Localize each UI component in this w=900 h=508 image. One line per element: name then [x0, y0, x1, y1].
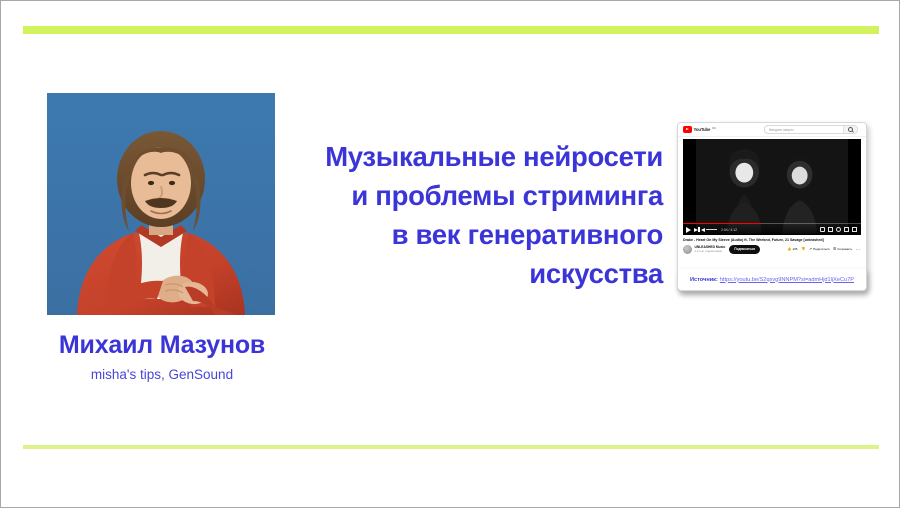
source-link[interactable]: https://youtu.be/S2qxvg9NNPM?si=admHjd1l…	[720, 277, 854, 283]
decorative-rule-bottom	[23, 445, 879, 449]
youtube-wordmark: YouTube	[694, 127, 711, 132]
youtube-search-bar[interactable]: Введите запрос	[764, 125, 858, 135]
save-label: Сохранить	[837, 247, 852, 251]
presentation-slide: Михаил Мазунов misha's tips, GenSound Му…	[0, 0, 900, 508]
youtube-play-icon	[683, 126, 692, 133]
time-display: 2:04 / 4:12	[721, 228, 737, 232]
volume-icon[interactable]	[701, 228, 705, 232]
video-title: Drake - Heart On My Sleeve (Audio) ft. T…	[683, 238, 861, 242]
dislike-icon: 👎	[801, 248, 805, 252]
pillarbox-left	[683, 139, 696, 235]
video-player[interactable]: 2:04 / 4:12	[683, 139, 861, 235]
youtube-header: YouTube RU Введите запрос	[678, 123, 866, 137]
save-icon: ☰	[833, 248, 836, 252]
share-button[interactable]: ↗ Поделиться	[809, 247, 830, 251]
settings-icon[interactable]	[836, 227, 841, 232]
title-line-4: искусства	[277, 254, 663, 293]
dislike-button[interactable]: 👎	[801, 248, 805, 252]
like-count: 105	[792, 247, 797, 251]
volume-slider[interactable]	[706, 229, 717, 230]
channel-info[interactable]: UNLEASHED Music 1,2 тыс. подписчиков	[695, 246, 726, 253]
theater-icon[interactable]	[844, 227, 849, 232]
speaker-portrait	[47, 93, 275, 315]
subscribe-button[interactable]: Подписаться	[729, 245, 760, 254]
youtube-region-label: RU	[712, 127, 716, 130]
source-label: Источник:	[690, 277, 718, 283]
page-title: Музыкальные нейросети и проблемы стримин…	[277, 137, 663, 293]
title-line-2: и проблемы стриминга	[277, 176, 663, 215]
save-button[interactable]: ☰ Сохранить	[833, 247, 852, 251]
subtitles-icon[interactable]	[820, 227, 825, 232]
video-frame	[683, 139, 861, 234]
miniplayer-icon[interactable]	[828, 227, 833, 232]
channel-row: UNLEASHED Music 1,2 тыс. подписчиков Под…	[683, 245, 861, 254]
video-actions: 👍 105 👎 ↗ Поделиться ☰ Сохранить ⋯	[787, 247, 861, 252]
source-caption: Источник: https://youtu.be/S2qxvg9NNPM?s…	[677, 269, 867, 291]
like-icon: 👍	[787, 248, 791, 252]
title-line-3: в век генеративного	[277, 215, 663, 254]
channel-subscribers: 1,2 тыс. подписчиков	[695, 250, 726, 253]
player-controls[interactable]: 2:04 / 4:12	[683, 224, 861, 235]
pillarbox-right	[848, 139, 861, 235]
fullscreen-icon[interactable]	[852, 227, 857, 232]
play-icon[interactable]	[686, 227, 691, 233]
search-icon	[848, 127, 853, 132]
share-icon: ↗	[809, 248, 812, 252]
player-controls-right	[820, 227, 858, 232]
decorative-rule-top	[23, 26, 879, 34]
search-input[interactable]: Введите запрос	[765, 128, 843, 132]
more-icon[interactable]: ⋯	[856, 247, 860, 252]
speaker-subtitle: misha's tips, GenSound	[1, 367, 323, 382]
speaker-name: Михаил Мазунов	[1, 332, 323, 360]
like-button[interactable]: 👍 105	[787, 247, 798, 251]
video-meta: Drake - Heart On My Sleeve (Audio) ft. T…	[678, 235, 866, 254]
channel-avatar[interactable]	[683, 245, 692, 254]
next-icon[interactable]	[694, 228, 698, 232]
youtube-screenshot-card: YouTube RU Введите запрос	[677, 122, 867, 292]
portrait-illustration	[47, 93, 275, 315]
speaker-block: Михаил Мазунов misha's tips, GenSound	[1, 332, 323, 382]
title-line-1: Музыкальные нейросети	[277, 137, 663, 176]
search-button[interactable]	[843, 126, 857, 134]
youtube-logo[interactable]: YouTube RU	[683, 126, 716, 133]
share-label: Поделиться	[813, 247, 830, 251]
